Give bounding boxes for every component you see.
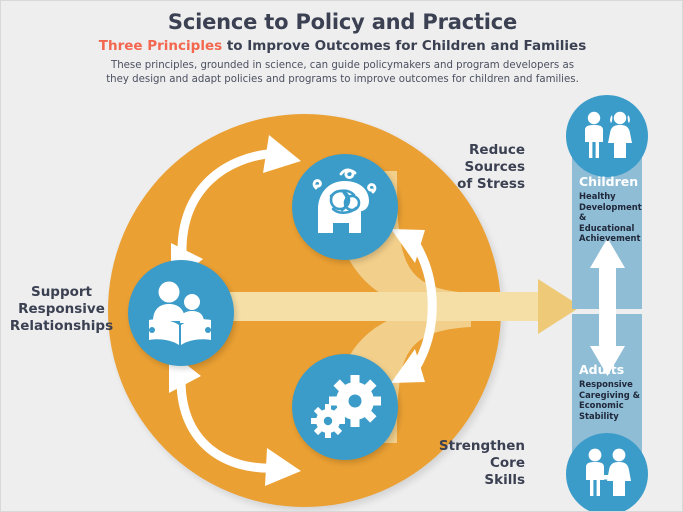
page-subtitle: Three Principles to Improve Outcomes for…	[1, 36, 683, 56]
adult-child-reading-book-icon	[139, 271, 223, 355]
sub-line-1: Healthy	[579, 191, 643, 202]
outcome-heading-children: Children	[579, 175, 638, 189]
infographic-canvas: Science to Policy and Practice Three Pri…	[0, 0, 683, 512]
principle-node-reduce-sources-of-stress[interactable]	[292, 154, 398, 260]
header: Science to Policy and Practice Three Pri…	[1, 9, 683, 86]
principle-node-support-responsive-relationships[interactable]	[128, 260, 234, 366]
boy-and-girl-icon	[576, 105, 638, 167]
outcome-sub-adults: Responsive Caregiving & Economic Stabili…	[579, 379, 643, 421]
outcome-sub-children: Healthy Development & Educational Achiev…	[579, 191, 643, 244]
gears-icon	[303, 365, 387, 449]
page-title: Science to Policy and Practice	[1, 9, 683, 35]
sub-line-1: Responsive	[579, 379, 643, 390]
outcome-icon-children[interactable]	[566, 95, 648, 177]
sub-line-3: & Educational	[579, 212, 643, 233]
label-line-3: Skills	[403, 472, 525, 489]
outcome-icon-adults[interactable]	[566, 433, 648, 512]
sub-line-2: Development	[579, 202, 643, 213]
label-line-3: Relationships	[9, 318, 114, 335]
label-line-2: Core	[403, 455, 525, 472]
label-line-2: Sources	[403, 159, 525, 176]
label-line-1: Support	[9, 284, 114, 301]
label-line-1: Reduce	[403, 142, 525, 159]
sub-line-4: Achievement	[579, 233, 643, 244]
sub-line-2: Caregiving &	[579, 390, 643, 401]
page-description: These principles, grounded in science, c…	[1, 59, 683, 86]
principle-label-support-responsive-relationships: Support Responsive Relationships	[9, 284, 114, 335]
man-and-woman-icon	[576, 443, 638, 505]
principle-node-strengthen-core-skills[interactable]	[292, 354, 398, 460]
outcome-heading-adults: Adults	[579, 363, 624, 377]
label-line-3: of Stress	[403, 176, 525, 193]
sub-line-3: Economic	[579, 400, 643, 411]
principle-label-reduce-sources-of-stress: Reduce Sources of Stress	[403, 142, 525, 193]
principle-label-strengthen-core-skills: Strengthen Core Skills	[403, 438, 525, 489]
label-line-2: Responsive	[9, 301, 114, 318]
label-line-1: Strengthen	[403, 438, 525, 455]
subtitle-accent: Three Principles	[99, 38, 222, 54]
head-tangled-brain-icon	[303, 165, 387, 249]
subtitle-rest: to Improve Outcomes for Children and Fam…	[222, 38, 586, 54]
sub-line-4: Stability	[579, 411, 643, 422]
